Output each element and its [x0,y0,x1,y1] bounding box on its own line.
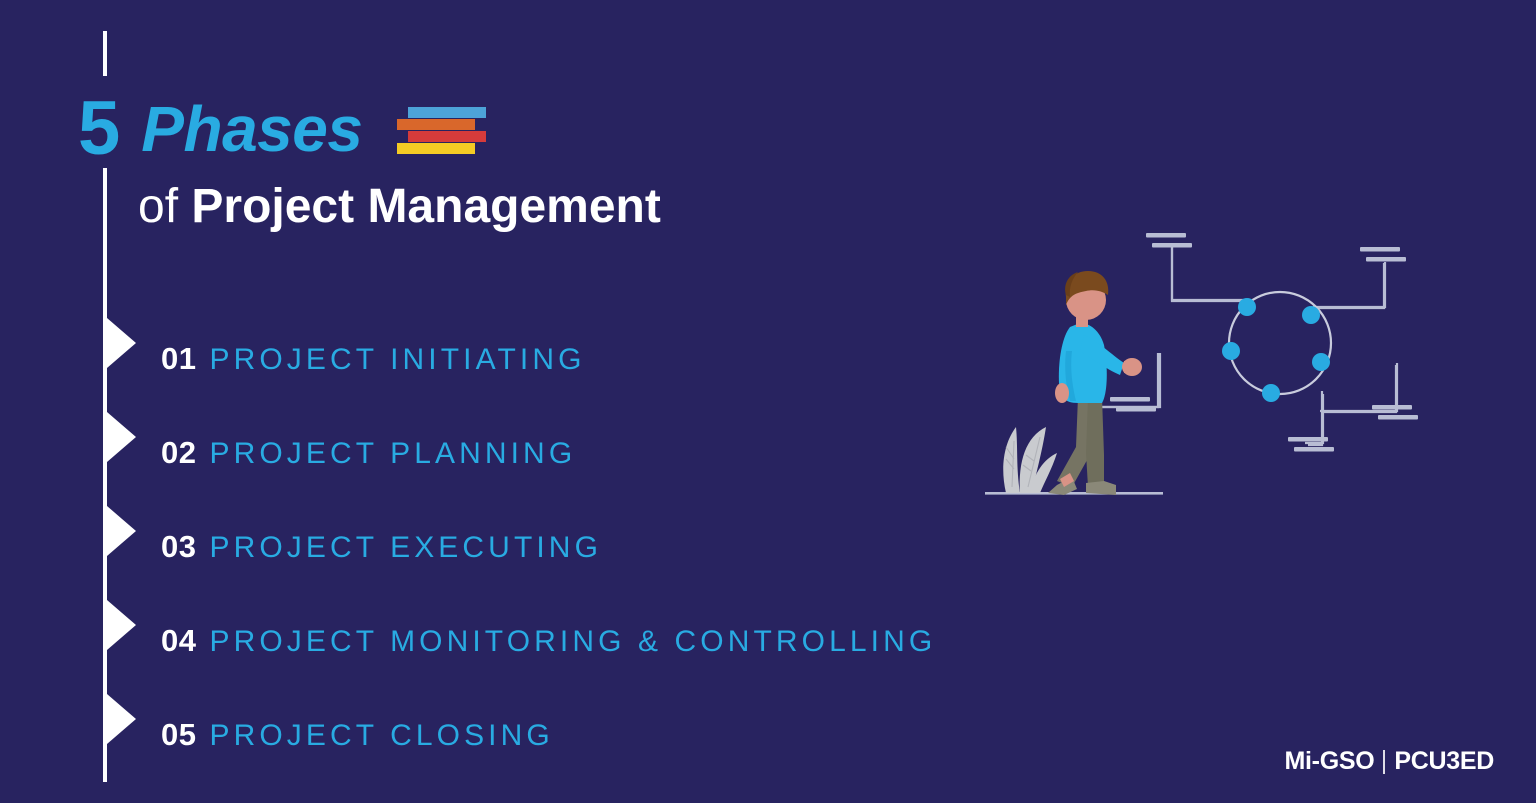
list-item[interactable]: 01 PROJECT INITIATING [103,312,1103,406]
accent-rule-top [103,31,107,76]
list-item[interactable]: 03 PROJECT EXECUTING [103,500,1103,594]
phase-label: PROJECT CLOSING [209,719,553,753]
headline-word: Phases [141,97,362,161]
arrow-right-icon [107,694,136,744]
logo-right-text: PCU3ED [1394,747,1494,776]
phase-label: PROJECT INITIATING [209,343,585,377]
phase-label: PROJECT EXECUTING [209,531,602,565]
list-item[interactable]: 02 PROJECT PLANNING [103,406,1103,500]
bar-yellow-segment [397,143,475,154]
brand-logo: Mi-GSO PCU3ED [1285,747,1495,776]
phase-number: 05 [161,717,196,753]
phase-text: 02 PROJECT PLANNING [161,435,576,471]
bar-red-segment [408,131,486,142]
slide-canvas: 5 Phases of Project Management 01 PROJEC… [0,0,1536,803]
page-subtitle: of Project Management [138,178,661,236]
arrow-right-icon [107,506,136,556]
phase-number: 01 [161,341,196,377]
logo-left-text: Mi-GSO [1285,747,1375,776]
arrow-right-icon [107,412,136,462]
headline: 5 Phases [78,83,492,175]
phase-text: 04 PROJECT MONITORING & CONTROLLING [161,623,936,659]
bar-blue-segment [408,107,486,118]
logo-divider [1383,750,1385,774]
subtitle-prefix: of [138,180,191,233]
phase-list: 01 PROJECT INITIATING 02 PROJECT PLANNIN… [103,312,1103,782]
headline-number: 5 [78,91,119,167]
subtitle-main: Project Management [191,180,660,233]
document-markers [1110,233,1418,452]
list-item[interactable]: 04 PROJECT MONITORING & CONTROLLING [103,594,1103,688]
connector-lines [1088,245,1397,443]
phase-text: 05 PROJECT CLOSING [161,717,554,753]
phase-text: 03 PROJECT EXECUTING [161,529,602,565]
person-figure [1048,271,1142,495]
list-item[interactable]: 05 PROJECT CLOSING [103,688,1103,782]
arrow-right-icon [107,318,136,368]
plant-icon [1003,427,1057,493]
phase-number: 04 [161,623,196,659]
stacked-bars-icon [392,107,492,159]
phase-label: PROJECT PLANNING [209,437,576,471]
bar-orange-segment [397,119,475,130]
phase-number: 02 [161,435,196,471]
phase-label: PROJECT MONITORING & CONTROLLING [209,625,936,659]
arrow-right-icon [107,600,136,650]
phase-number: 03 [161,529,196,565]
phase-text: 01 PROJECT INITIATING [161,341,586,377]
person-network-diagram-illustration [960,215,1430,515]
